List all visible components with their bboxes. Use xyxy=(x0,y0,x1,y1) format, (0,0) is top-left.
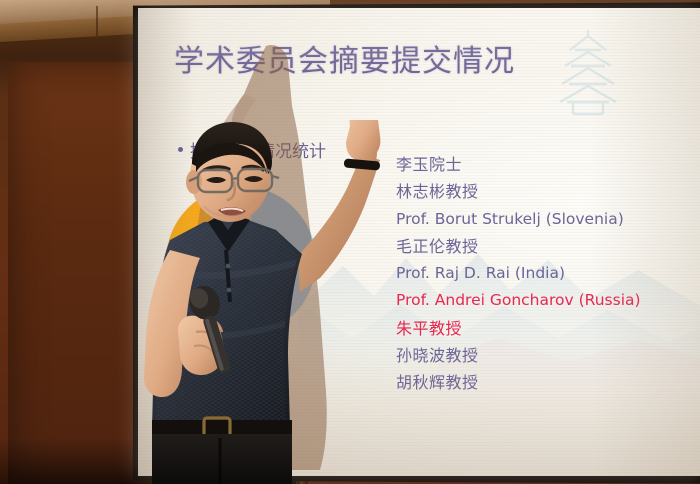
list-item: Prof. Raj D. Rai (India) xyxy=(396,260,696,287)
list-item: 胡秋辉教授 xyxy=(396,369,696,396)
list-item: 林志彬教授 xyxy=(396,178,696,205)
list-item: Prof. Borut Strukelj (Slovenia) xyxy=(396,206,696,233)
list-item: 孙晓波教授 xyxy=(396,342,696,369)
ceiling-seam xyxy=(96,6,98,36)
speaker-person xyxy=(100,120,430,484)
presentation-photo: 学术委员会摘要提交情况 摘要提交情况统计 李玉院士 林志彬教授 Prof. Bo… xyxy=(0,0,700,484)
pointing-hand xyxy=(344,120,381,171)
list-item: 李玉院士 xyxy=(396,151,696,178)
slide-title: 学术委员会摘要提交情况 xyxy=(174,36,515,80)
list-item: 毛正伦教授 xyxy=(396,233,696,260)
list-item: Prof. Andrei Goncharov (Russia) xyxy=(396,287,696,314)
committee-name-list: 李玉院士 林志彬教授 Prof. Borut Strukelj (Sloveni… xyxy=(396,151,696,397)
list-item: 朱平教授 xyxy=(396,315,696,342)
pagoda-icon xyxy=(553,26,623,118)
